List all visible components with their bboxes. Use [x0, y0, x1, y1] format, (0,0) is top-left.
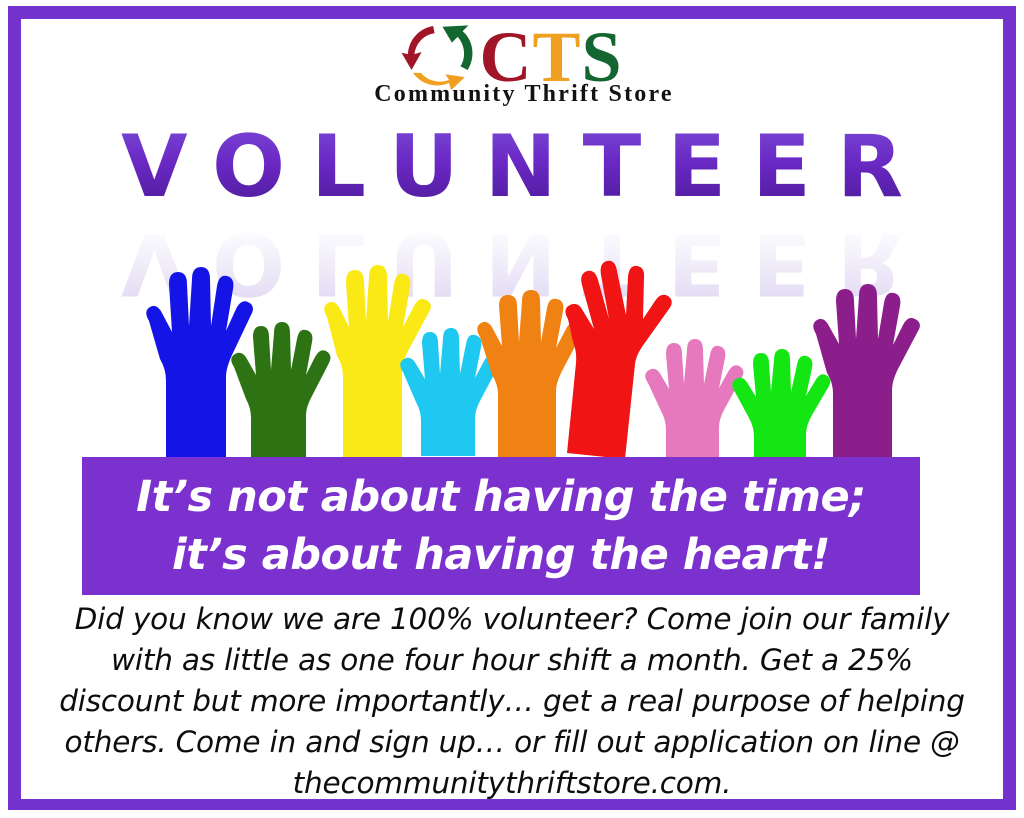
headline-block: VOLUNTEER VOLUNTEER — [21, 119, 1003, 264]
hand-pink — [645, 339, 743, 459]
recycle-segment-green — [443, 25, 473, 70]
poster-content: CTS Community Thrift Store VOLUNTEER VOL… — [21, 19, 1003, 799]
hand-yellow — [324, 265, 431, 457]
hand-bright-green — [732, 349, 830, 459]
recycle-segment-dark-red — [401, 26, 434, 70]
raised-hands-illustration — [21, 259, 1003, 459]
banner-line-2: it’s about having the heart! — [172, 526, 830, 584]
body-paragraph: Did you know we are 100% volunteer? Come… — [51, 599, 973, 799]
hand-purple — [813, 284, 920, 459]
banner-line-1: It’s not about having the time; — [136, 468, 866, 526]
hand-red — [565, 261, 671, 459]
hand-dark-green — [231, 322, 330, 459]
page-title: VOLUNTEER — [95, 119, 929, 215]
logo-subtitle: Community Thrift Store — [374, 81, 674, 108]
cts-logo: CTS Community Thrift Store — [21, 19, 1003, 119]
quote-banner: It’s not about having the time; it’s abo… — [82, 457, 920, 595]
volunteer-poster: CTS Community Thrift Store VOLUNTEER VOL… — [0, 0, 1024, 818]
